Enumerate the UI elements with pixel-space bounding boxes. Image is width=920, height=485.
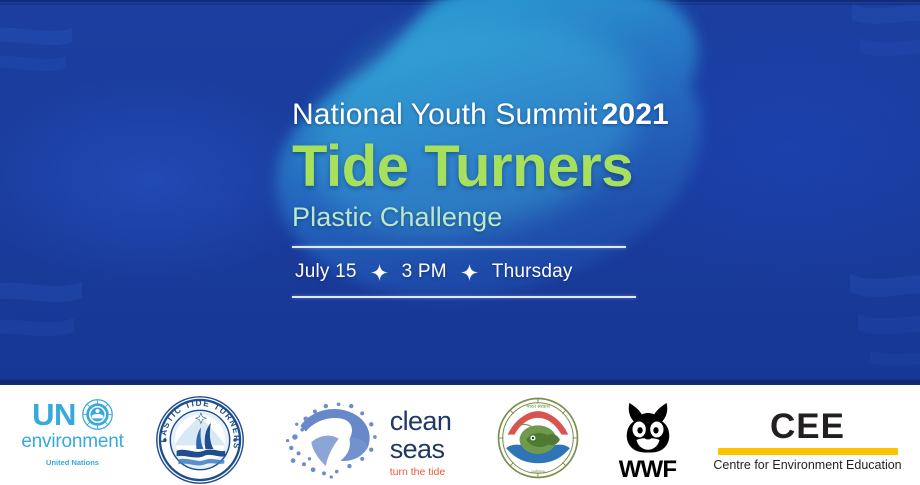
- page-subtitle: Plastic Challenge: [292, 201, 712, 233]
- un-emblem-icon: [82, 399, 113, 430]
- event-time: 3 PM: [402, 261, 447, 283]
- headline-year: 2021: [602, 98, 669, 131]
- logo-clean-seas: clean seas turn the tide: [255, 385, 480, 485]
- headline: National Youth Summit2021: [292, 98, 712, 132]
- event-banner: National Youth Summit2021 Tide Turners P…: [0, 0, 920, 485]
- logo-plastic-tide-turners: PLASTIC TIDE TURNERS: [145, 385, 255, 485]
- divider-bottom: [292, 296, 636, 298]
- partner-logo-strip: UN: [0, 385, 920, 485]
- cee-sub-label: Centre for Environment Education: [713, 458, 901, 472]
- logo-wwf: WWF: [595, 385, 700, 485]
- logo-cee: CEE Centre for Environment Education: [700, 385, 915, 485]
- logo-un-environment: UN: [0, 385, 145, 485]
- sparkle-separator-icon-2: [461, 264, 478, 281]
- wwf-panda-icon: [617, 394, 679, 456]
- hero-section: National Youth Summit2021 Tide Turners P…: [0, 0, 920, 385]
- plastic-tide-turners-seal-icon: PLASTIC TIDE TURNERS: [152, 395, 248, 485]
- sparkle-separator-icon: [371, 264, 388, 281]
- wave-accent-bottom-right-icon: [806, 262, 920, 382]
- wave-accent-top-right-icon: [812, 0, 920, 94]
- clean-seas-wave-icon: [284, 395, 384, 479]
- headline-prefix: National Youth Summit: [292, 98, 598, 131]
- page-title: Tide Turners: [292, 136, 712, 198]
- un-logo-top: UN: [32, 399, 113, 430]
- un-wordmark: UN: [32, 399, 76, 430]
- clean-seas-word1: clean: [390, 407, 452, 435]
- cee-wordmark: CEE: [770, 409, 845, 445]
- divider-top: [292, 246, 626, 248]
- event-details-row: July 15 3 PM Thursday: [292, 259, 712, 285]
- hero-text-block: National Youth Summit2021 Tide Turners P…: [292, 98, 712, 298]
- wave-accent-top-left-icon: [0, 18, 106, 108]
- event-weekday: Thursday: [492, 261, 573, 283]
- un-environment-label: environment: [21, 431, 123, 453]
- wave-accent-bottom-left-icon: [0, 268, 130, 378]
- cee-accent-bar: [718, 448, 898, 455]
- svg-text:भारत सरकार: भारत सरकार: [526, 404, 551, 410]
- svg-text:पर्यावरण: पर्यावरण: [531, 469, 545, 474]
- wwf-wordmark: WWF: [619, 458, 677, 482]
- logo-government-emblem: भारत सरकार पर्यावरण: [480, 385, 595, 485]
- government-emblem-icon: भारत सरकार पर्यावरण: [496, 396, 580, 480]
- event-date: July 15: [295, 261, 357, 283]
- hero-bottom-edge: [0, 378, 920, 385]
- un-sub-label: United Nations: [46, 458, 99, 467]
- clean-seas-tagline: turn the tide: [390, 466, 452, 478]
- clean-seas-text: clean seas turn the tide: [390, 395, 452, 478]
- clean-seas-word2: seas: [390, 435, 452, 463]
